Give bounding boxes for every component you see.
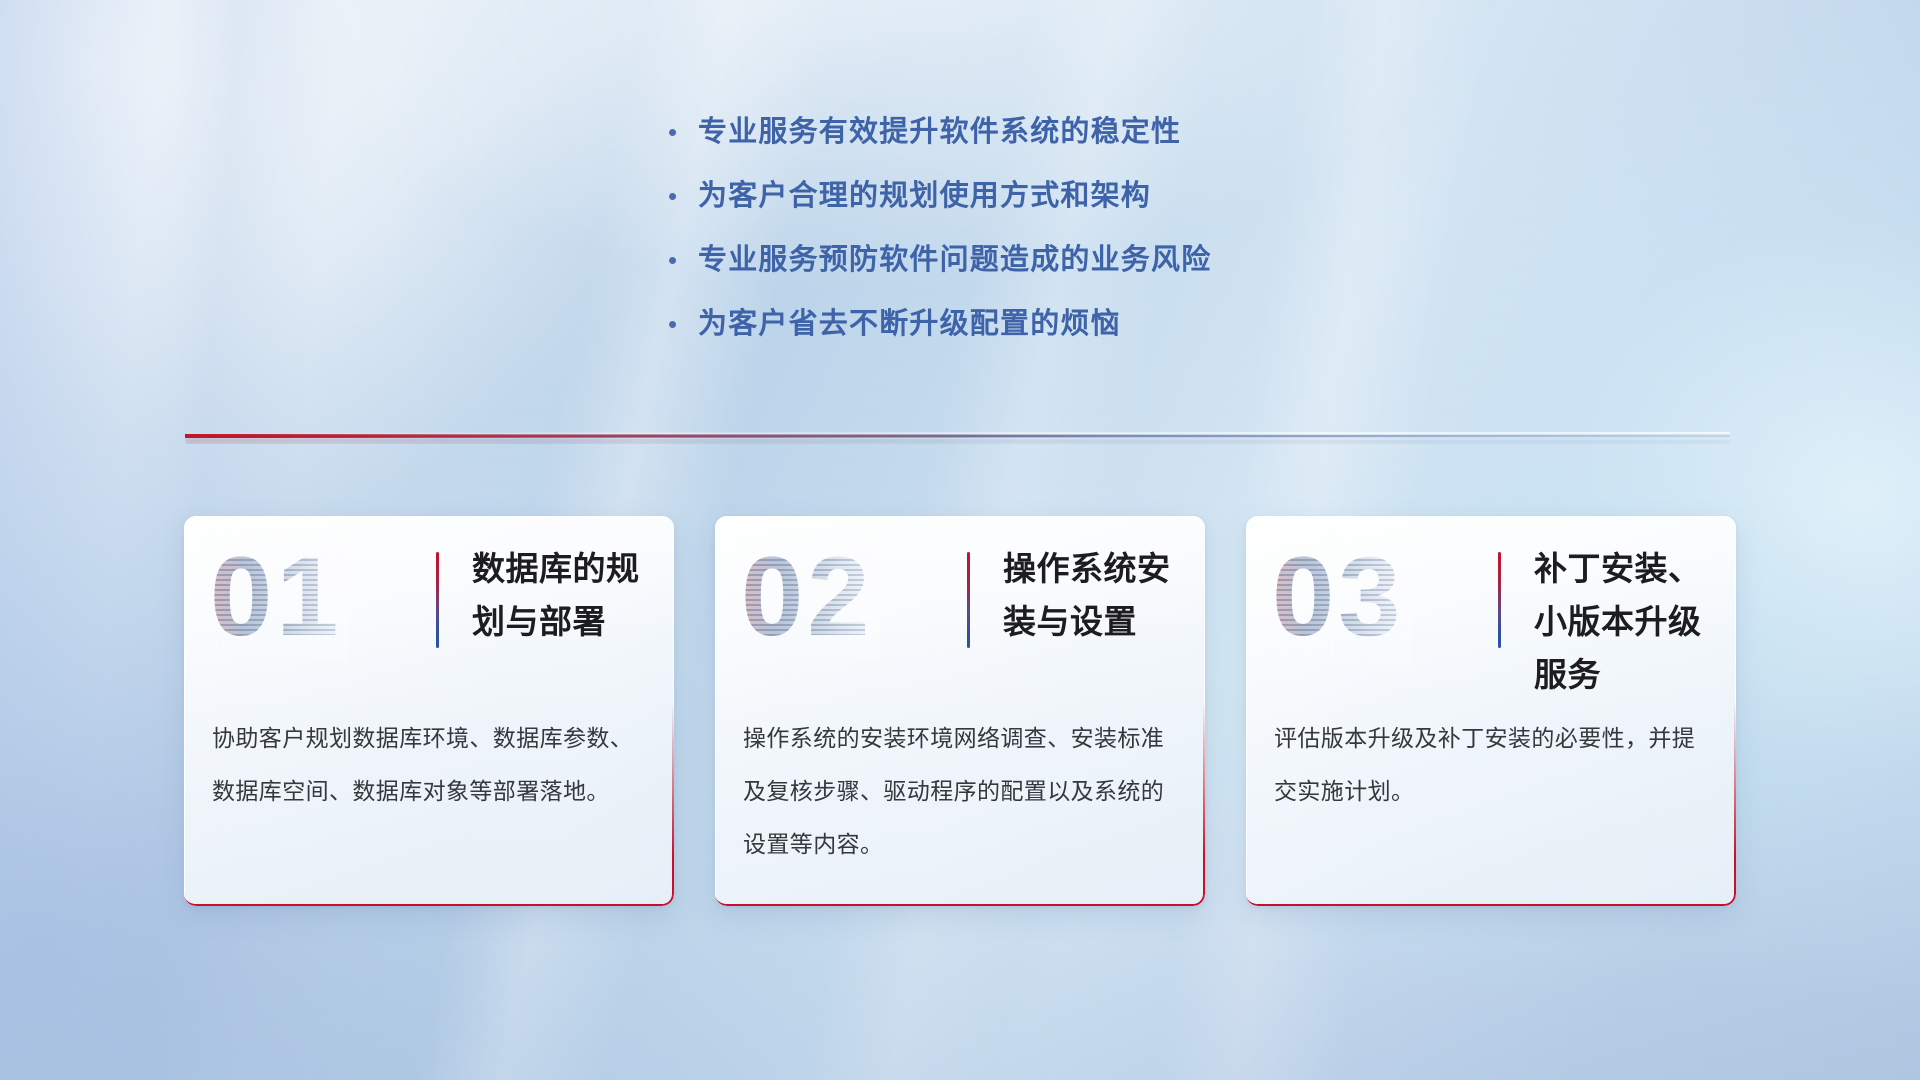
service-card-03[interactable]: 03 补丁安装、小版本升级服务 评估版本升级及补丁安装的必要性，并提交实施计划。 (1246, 516, 1736, 906)
bullet-item-text: 专业服务预防软件问题造成的业务风险 (698, 240, 1211, 280)
bullet-item: • 专业服务预防软件问题造成的业务风险 (668, 240, 1388, 304)
divider-shadow (185, 438, 1730, 444)
card-description: 操作系统的安装环境网络调查、安装标准及复核步骤、驱动程序的配置以及系统的设置等内… (743, 712, 1181, 871)
bullet-dot-icon: • (668, 304, 698, 344)
bullet-item-text: 为客户合理的规划使用方式和架构 (698, 176, 1151, 216)
slide-canvas: • 专业服务有效提升软件系统的稳定性 • 为客户合理的规划使用方式和架构 • 专… (0, 0, 1920, 1080)
card-title: 补丁安装、小版本升级服务 (1534, 542, 1718, 701)
section-divider (185, 425, 1730, 447)
bullet-item: • 为客户省去不断升级配置的烦恼 (668, 304, 1388, 368)
card-description: 评估版本升级及补丁安装的必要性，并提交实施计划。 (1274, 712, 1712, 818)
bullet-item: • 为客户合理的规划使用方式和架构 (668, 176, 1388, 240)
card-title-rule (436, 552, 439, 648)
benefits-bullet-list: • 专业服务有效提升软件系统的稳定性 • 为客户合理的规划使用方式和架构 • 专… (668, 112, 1388, 368)
card-header: 01 数据库的规划与部署 (184, 516, 674, 686)
service-card-02[interactable]: 02 操作系统安装与设置 操作系统的安装环境网络调查、安装标准及复核步骤、驱动程… (715, 516, 1205, 906)
card-number-watermark: 02 (741, 538, 874, 656)
bullet-item: • 专业服务有效提升软件系统的稳定性 (668, 112, 1388, 176)
card-title: 操作系统安装与设置 (1003, 542, 1187, 648)
divider-highlight (185, 432, 1730, 435)
card-header: 02 操作系统安装与设置 (715, 516, 1205, 686)
bullet-dot-icon: • (668, 112, 698, 152)
bullet-item-text: 为客户省去不断升级配置的烦恼 (698, 304, 1121, 344)
service-card-row: 01 数据库的规划与部署 协助客户规划数据库环境、数据库参数、数据库空间、数据库… (184, 516, 1736, 916)
card-number-watermark: 03 (1272, 538, 1405, 656)
bullet-dot-icon: • (668, 176, 698, 216)
service-card-01[interactable]: 01 数据库的规划与部署 协助客户规划数据库环境、数据库参数、数据库空间、数据库… (184, 516, 674, 906)
bullet-dot-icon: • (668, 240, 698, 280)
card-title-rule (1498, 552, 1501, 648)
card-header: 03 补丁安装、小版本升级服务 (1246, 516, 1736, 686)
card-title-rule (967, 552, 970, 648)
card-description: 协助客户规划数据库环境、数据库参数、数据库空间、数据库对象等部署落地。 (212, 712, 650, 818)
card-number-watermark: 01 (210, 538, 343, 656)
card-title: 数据库的规划与部署 (472, 542, 656, 648)
bullet-item-text: 专业服务有效提升软件系统的稳定性 (698, 112, 1181, 152)
